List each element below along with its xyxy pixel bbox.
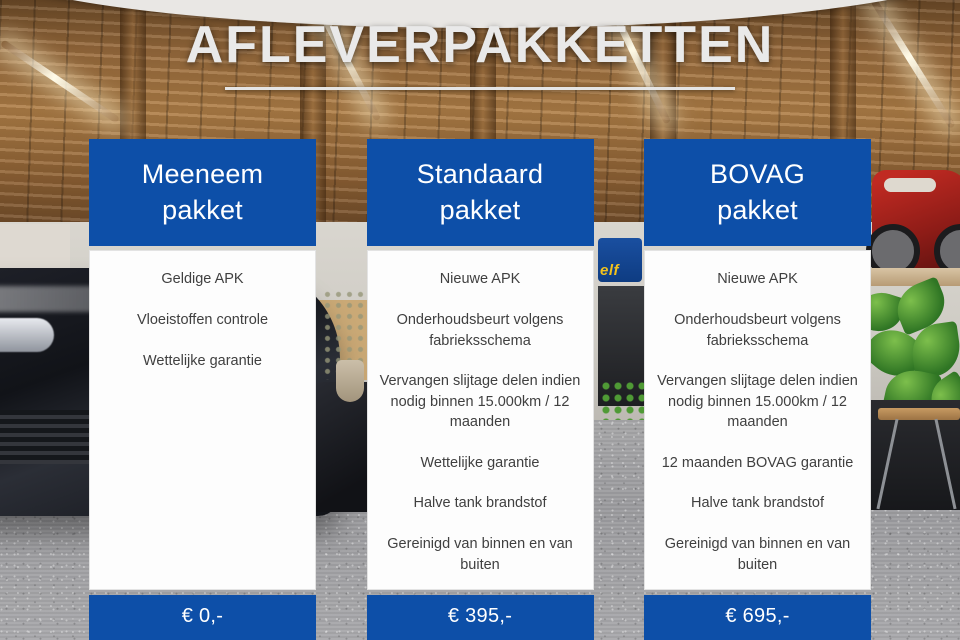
package-name-line1: BOVAG xyxy=(654,156,861,192)
package-price[interactable]: € 395,- xyxy=(367,595,594,640)
feature-item: Nieuwe APK xyxy=(657,269,858,290)
feature-item: Wettelijke garantie xyxy=(380,453,581,474)
page-title: AFLEVERPAKKETTEN xyxy=(186,18,775,73)
side-table xyxy=(878,408,960,420)
package-name-line2: pakket xyxy=(377,192,584,228)
package-card-bovag[interactable]: BOVAG pakket Nieuwe APK Onderhoudsbeurt … xyxy=(644,139,871,640)
package-price[interactable]: € 0,- xyxy=(89,595,316,640)
page-root: elf AFLEVERPAKKETTEN xyxy=(0,0,960,640)
package-header: BOVAG pakket xyxy=(644,139,871,246)
feature-item: Halve tank brandstof xyxy=(380,493,581,514)
feature-item: Vloeistoffen controle xyxy=(102,310,303,331)
feature-item: Vervangen slijtage delen indien nodig bi… xyxy=(380,371,581,433)
feature-item: Geldige APK xyxy=(102,269,303,290)
package-cards: Meeneem pakket Geldige APK Vloeistoffen … xyxy=(89,139,871,640)
package-feature-list: Nieuwe APK Onderhoudsbeurt volgens fabri… xyxy=(367,250,594,590)
package-name-line2: pakket xyxy=(99,192,306,228)
package-price[interactable]: € 695,- xyxy=(644,595,871,640)
feature-item: Gereinigd van binnen en van buiten xyxy=(380,534,581,575)
feature-item: Onderhoudsbeurt volgens fabrieksschema xyxy=(657,310,858,351)
feature-item: Nieuwe APK xyxy=(380,269,581,290)
feature-item: Wettelijke garantie xyxy=(102,351,303,372)
package-name-line2: pakket xyxy=(654,192,861,228)
package-header: Meeneem pakket xyxy=(89,139,316,246)
page-title-block: AFLEVERPAKKETTEN xyxy=(0,18,960,90)
feature-item: Vervangen slijtage delen indien nodig bi… xyxy=(657,371,858,433)
package-card-meeneem[interactable]: Meeneem pakket Geldige APK Vloeistoffen … xyxy=(89,139,316,640)
motorbike-seat xyxy=(884,178,936,192)
feature-item: Halve tank brandstof xyxy=(657,493,858,514)
package-name-line1: Meeneem xyxy=(99,156,306,192)
package-header: Standaard pakket xyxy=(367,139,594,246)
car-headlight xyxy=(0,318,54,352)
package-feature-list: Nieuwe APK Onderhoudsbeurt volgens fabri… xyxy=(644,250,871,590)
package-card-standaard[interactable]: Standaard pakket Nieuwe APK Onderhoudsbe… xyxy=(367,139,594,640)
package-feature-list: Geldige APK Vloeistoffen controle Wettel… xyxy=(89,250,316,590)
feature-item: 12 maanden BOVAG garantie xyxy=(657,453,858,474)
feature-item: Gereinigd van binnen en van buiten xyxy=(657,534,858,575)
title-divider xyxy=(225,87,735,90)
feature-item: Onderhoudsbeurt volgens fabrieksschema xyxy=(380,310,581,351)
package-name-line1: Standaard xyxy=(377,156,584,192)
